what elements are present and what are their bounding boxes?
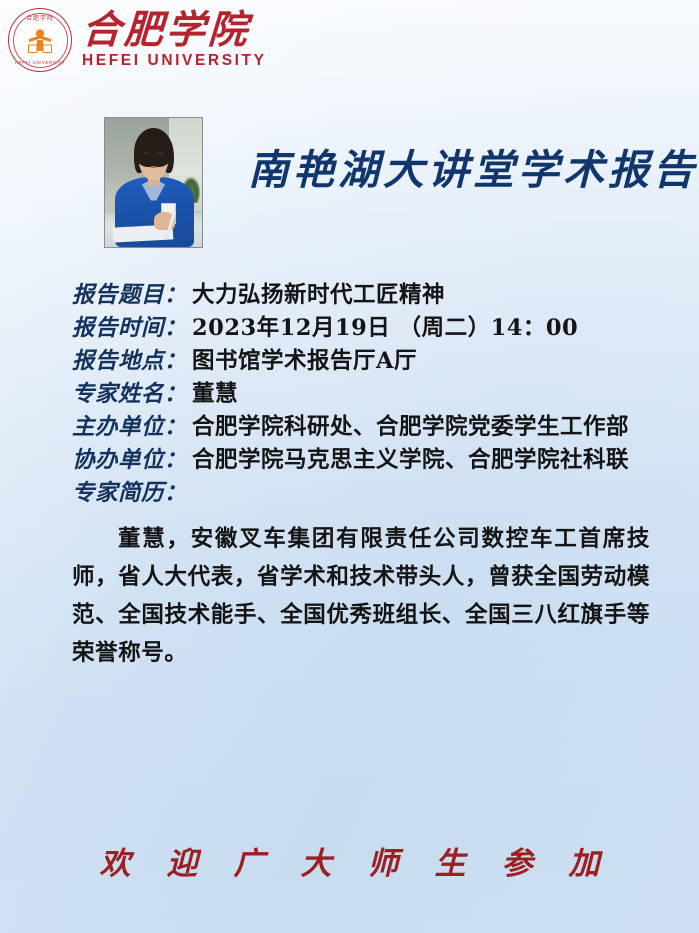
detail-row-topic: 报告题目： 大力弘扬新时代工匠精神 [72,277,652,310]
detail-row-coorganizer: 协办单位： 合肥学院马克思主义学院、合肥学院社科联 [72,442,652,475]
photo-eye-right [157,152,163,155]
detail-label-coorganizer: 协办单位： [72,442,187,474]
poster-canvas: 合肥学院 HEFEI UNIVERSITY 合肥学院 HEFEI UNIVERS… [0,0,699,933]
detail-row-time: 报告时间： 2023年12月19日 （周二）14：00 [72,310,652,343]
detail-label-speaker: 专家姓名： [72,376,187,408]
university-name-cn: 合肥学院 [81,11,268,51]
detail-value-organizer: 合肥学院科研处、合肥学院党委学生工作部 [192,409,629,441]
detail-row-location: 报告地点： 图书馆学术报告厅A厅 [72,343,652,376]
university-name-en: HEFEI UNIVERSITY [82,53,267,69]
photo-mouth [150,166,158,168]
university-wordmark: 合肥学院 HEFEI UNIVERSITY [82,11,267,68]
photo-hair [134,128,173,167]
welcome-footer-text: 欢迎广大师生参加 [0,838,699,883]
detail-value-topic: 大力弘扬新时代工匠精神 [192,277,445,309]
page-title: 南艳湖大讲堂学术报告 [248,148,698,193]
detail-label-topic: 报告题目： [72,277,187,309]
detail-value-time: 2023年12月19日 （周二）14：00 [192,310,578,342]
detail-label-time: 报告时间： [72,310,187,342]
detail-row-organizer: 主办单位： 合肥学院科研处、合肥学院党委学生工作部 [72,409,652,442]
university-seal-icon: 合肥学院 HEFEI UNIVERSITY [8,8,72,72]
detail-value-speaker: 董慧 [192,376,238,408]
speaker-portrait-photo [104,117,203,248]
detail-row-bio-heading: 专家简历： [72,475,652,508]
detail-row-speaker: 专家姓名： 董慧 [72,376,652,409]
detail-label-bio: 专家简历： [72,475,187,507]
seal-arc-top-text: 合肥学院 [9,16,71,22]
detail-value-coorganizer: 合肥学院马克思主义学院、合肥学院社科联 [192,442,629,474]
event-details-list: 报告题目： 大力弘扬新时代工匠精神 报告时间： 2023年12月19日 （周二）… [72,277,652,508]
university-header: 合肥学院 HEFEI UNIVERSITY 合肥学院 HEFEI UNIVERS… [8,8,267,72]
photo-eye-left [143,152,149,155]
detail-label-organizer: 主办单位： [72,409,187,441]
seal-arc-bottom-text: HEFEI UNIVERSITY [9,61,71,65]
detail-label-location: 报告地点： [72,343,187,375]
speaker-bio-paragraph: 董慧，安徽叉车集团有限责任公司数控车工首席技师，省人大代表，省学术和技术带头人，… [72,520,650,672]
detail-value-location: 图书馆学术报告厅A厅 [192,343,417,375]
seal-emblem-icon [25,26,55,56]
